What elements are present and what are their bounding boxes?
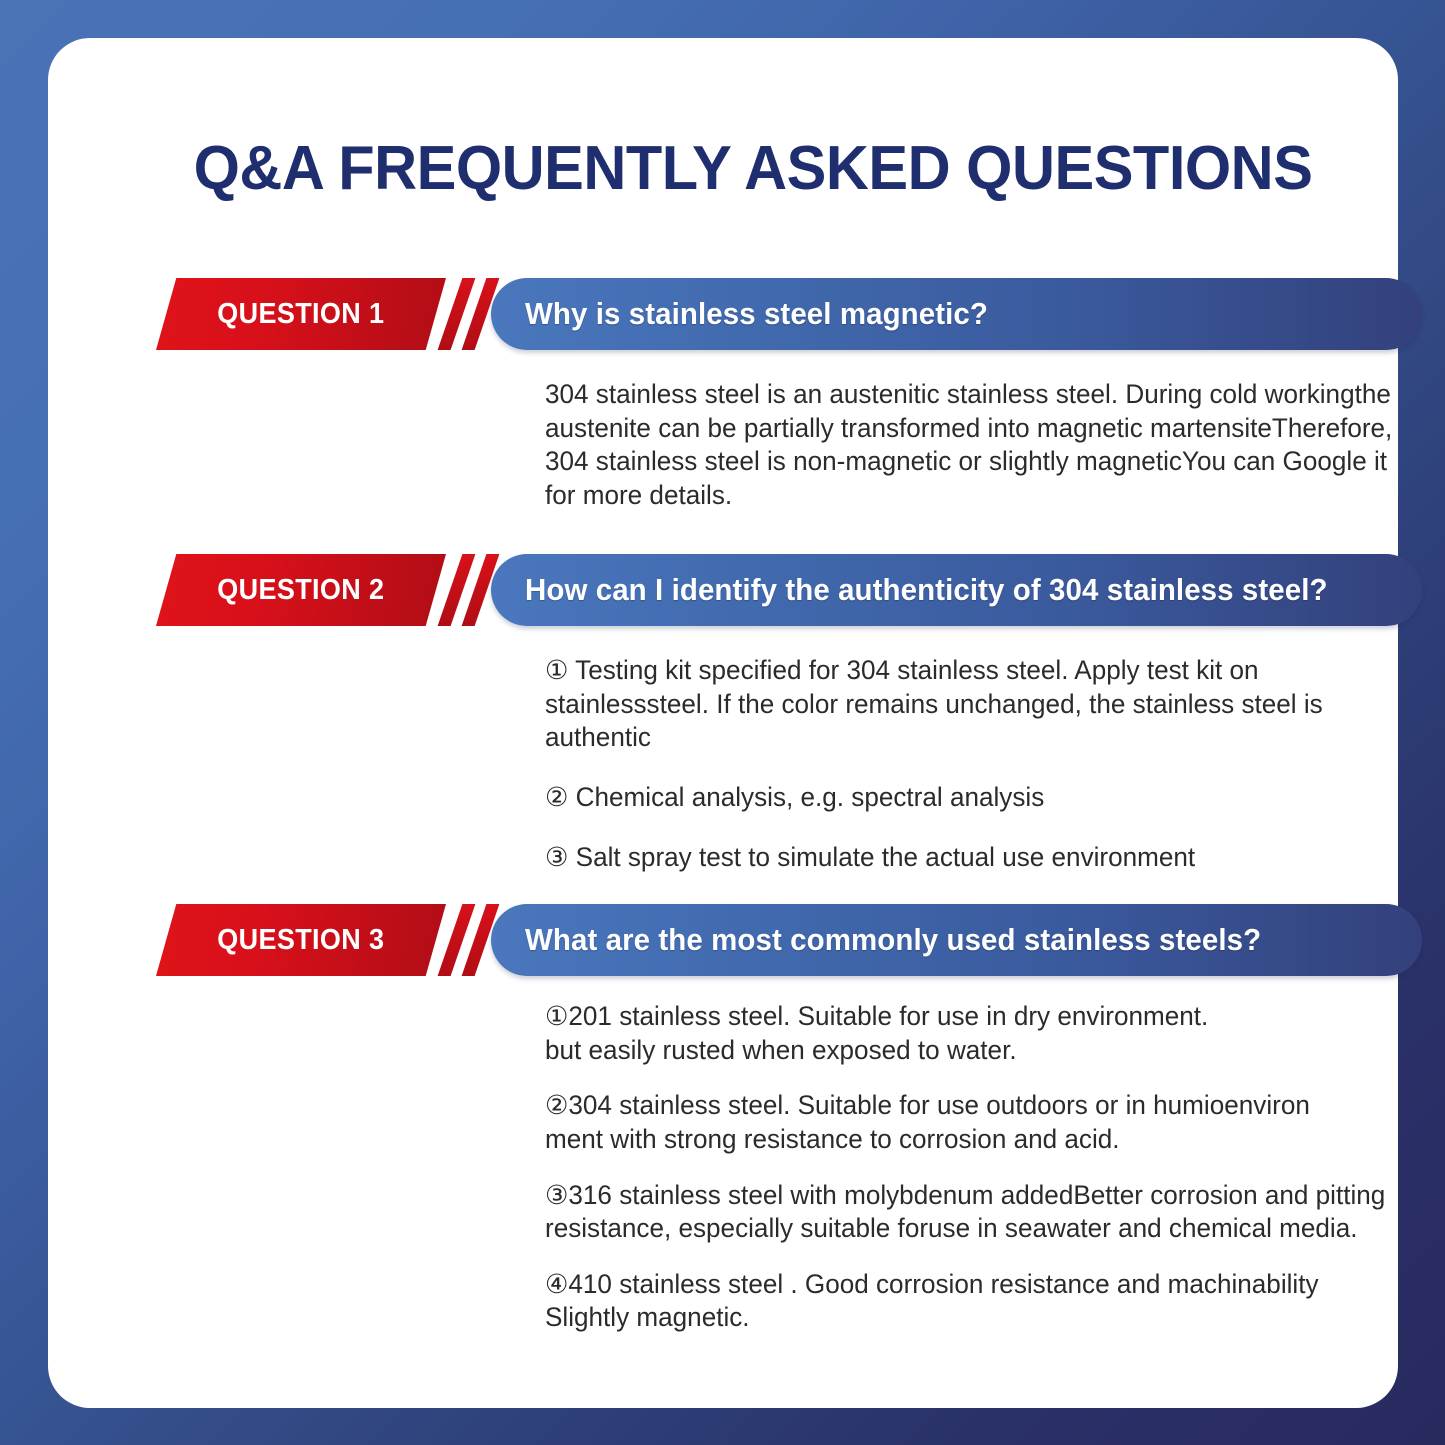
question-tag-label-1: QUESTION 1 — [217, 298, 384, 331]
answer-paragraph: ②304 stainless steel. Suitable for use o… — [545, 1089, 1412, 1156]
faq-card: Q&A FREQUENTLY ASKED QUESTIONS QUESTION … — [48, 38, 1398, 1408]
question-text-1: Why is stainless steel magnetic? — [525, 296, 988, 332]
faq-answer-3: ①201 stainless steel. Suitable for use i… — [545, 1000, 1412, 1335]
question-text-3: What are the most commonly used stainles… — [525, 922, 1261, 958]
answer-paragraph: ① Testing kit specified for 304 stainles… — [545, 654, 1412, 755]
faq-header-3: QUESTION 3 What are the most commonly us… — [48, 904, 1398, 976]
question-tag-3: QUESTION 3 — [156, 904, 446, 976]
faq-header-2: QUESTION 2 How can I identify the authen… — [48, 554, 1398, 626]
faq-answer-2: ① Testing kit specified for 304 stainles… — [545, 654, 1412, 874]
answer-paragraph: ①201 stainless steel. Suitable for use i… — [545, 1000, 1412, 1067]
question-text-2: How can I identify the authenticity of 3… — [525, 572, 1328, 608]
question-pill-1[interactable]: Why is stainless steel magnetic? — [491, 278, 1422, 350]
question-pill-3[interactable]: What are the most commonly used stainles… — [491, 904, 1422, 976]
faq-answer-1: 304 stainless steel is an austenitic sta… — [545, 378, 1412, 513]
answer-paragraph: ③316 stainless steel with molybdenum add… — [545, 1179, 1412, 1246]
page-title: Q&A FREQUENTLY ASKED QUESTIONS — [177, 133, 1329, 204]
question-pill-2[interactable]: How can I identify the authenticity of 3… — [491, 554, 1422, 626]
answer-paragraph: ② Chemical analysis, e.g. spectral analy… — [545, 781, 1412, 815]
question-tag-label-3: QUESTION 3 — [217, 924, 384, 957]
faq-header-1: QUESTION 1 Why is stainless steel magnet… — [48, 278, 1398, 350]
question-tag-1: QUESTION 1 — [156, 278, 446, 350]
question-tag-label-2: QUESTION 2 — [217, 574, 384, 607]
question-tag-2: QUESTION 2 — [156, 554, 446, 626]
answer-paragraph: ③ Salt spray test to simulate the actual… — [545, 841, 1412, 875]
answer-paragraph: 304 stainless steel is an austenitic sta… — [545, 378, 1412, 513]
answer-paragraph: ④410 stainless steel . Good corrosion re… — [545, 1268, 1412, 1335]
